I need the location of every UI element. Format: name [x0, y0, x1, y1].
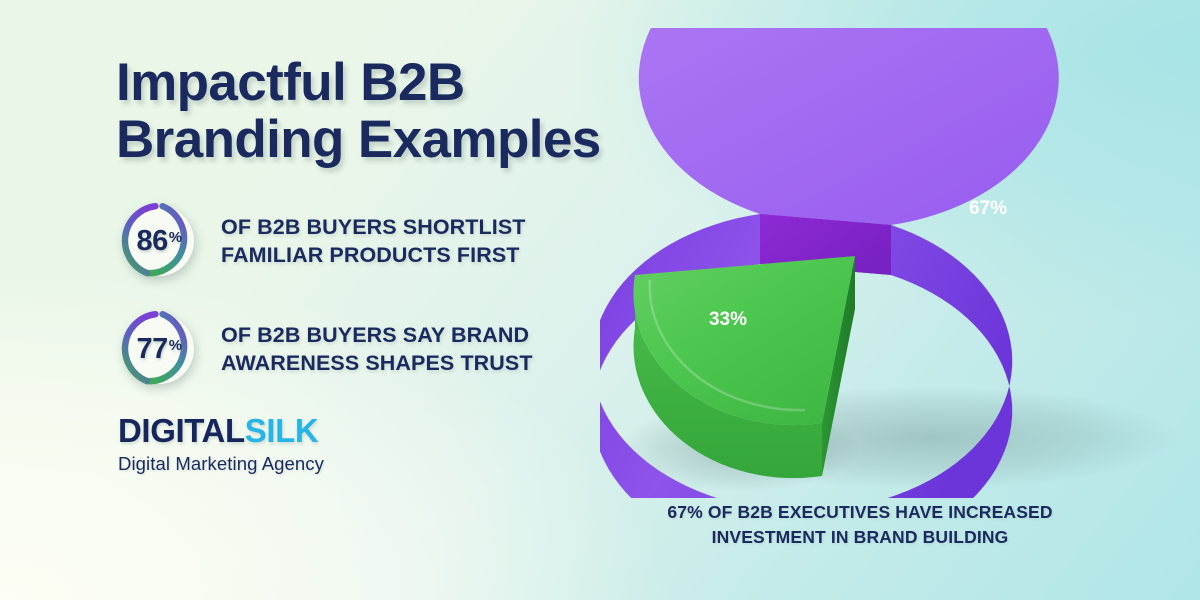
logo-tagline: Digital Marketing Agency — [118, 453, 656, 475]
stat-item-77: 77 % OF B2B BUYERS SAY BRAND AWARENESS S… — [116, 306, 656, 392]
stat-percent-symbol-86: % — [169, 230, 182, 245]
pie-slice-label-33: 33% — [709, 309, 747, 330]
page-title-line-2: Branding Examples — [116, 111, 656, 168]
progress-ring-icon-86: 86 % — [116, 198, 202, 284]
stat-percent-symbol-77: % — [169, 338, 182, 353]
page-title: Impactful B2B Branding Examples — [116, 54, 656, 168]
infographic-canvas: Impactful B2B Branding Examples — [0, 0, 1200, 600]
stat-description-86-line-2: FAMILIAR PRODUCTS FIRST — [221, 241, 526, 269]
page-title-line-1: Impactful B2B — [116, 54, 656, 111]
pie-slice-label-67: 67% — [969, 198, 1007, 219]
statistics-list: 86 % OF B2B BUYERS SHORTLIST FAMILIAR PR… — [116, 198, 656, 392]
left-content-column: Impactful B2B Branding Examples — [116, 54, 656, 475]
stat-description-86-line-1: OF B2B BUYERS SHORTLIST — [221, 213, 526, 241]
brand-logo: DIGITALSILK Digital Marketing Agency — [118, 414, 656, 475]
pie-chart: 67% 33% — [600, 28, 1200, 538]
stat-description-77-line-2: AWARENESS SHAPES TRUST — [221, 349, 533, 377]
stat-value-77: 77 — [136, 335, 167, 364]
chart-caption-line-2: INVESTMENT IN BRAND BUILDING — [600, 525, 1120, 550]
stat-value-86: 86 — [136, 227, 167, 256]
stat-description-86: OF B2B BUYERS SHORTLIST FAMILIAR PRODUCT… — [221, 213, 526, 270]
stat-description-77-line-1: OF B2B BUYERS SAY BRAND — [221, 321, 533, 349]
progress-ring-value-86: 86 % — [116, 198, 202, 284]
logo-word-silk: SILK — [245, 412, 319, 449]
stat-description-77: OF B2B BUYERS SAY BRAND AWARENESS SHAPES… — [221, 321, 533, 378]
progress-ring-icon-77: 77 % — [116, 306, 202, 392]
stat-item-86: 86 % OF B2B BUYERS SHORTLIST FAMILIAR PR… — [116, 198, 656, 284]
progress-ring-value-77: 77 % — [116, 306, 202, 392]
logo-wordmark: DIGITALSILK — [118, 414, 656, 447]
chart-caption: 67% OF B2B EXECUTIVES HAVE INCREASED INV… — [600, 500, 1120, 551]
logo-word-digital: DIGITAL — [118, 412, 245, 449]
chart-caption-line-1: 67% OF B2B EXECUTIVES HAVE INCREASED — [600, 500, 1120, 525]
